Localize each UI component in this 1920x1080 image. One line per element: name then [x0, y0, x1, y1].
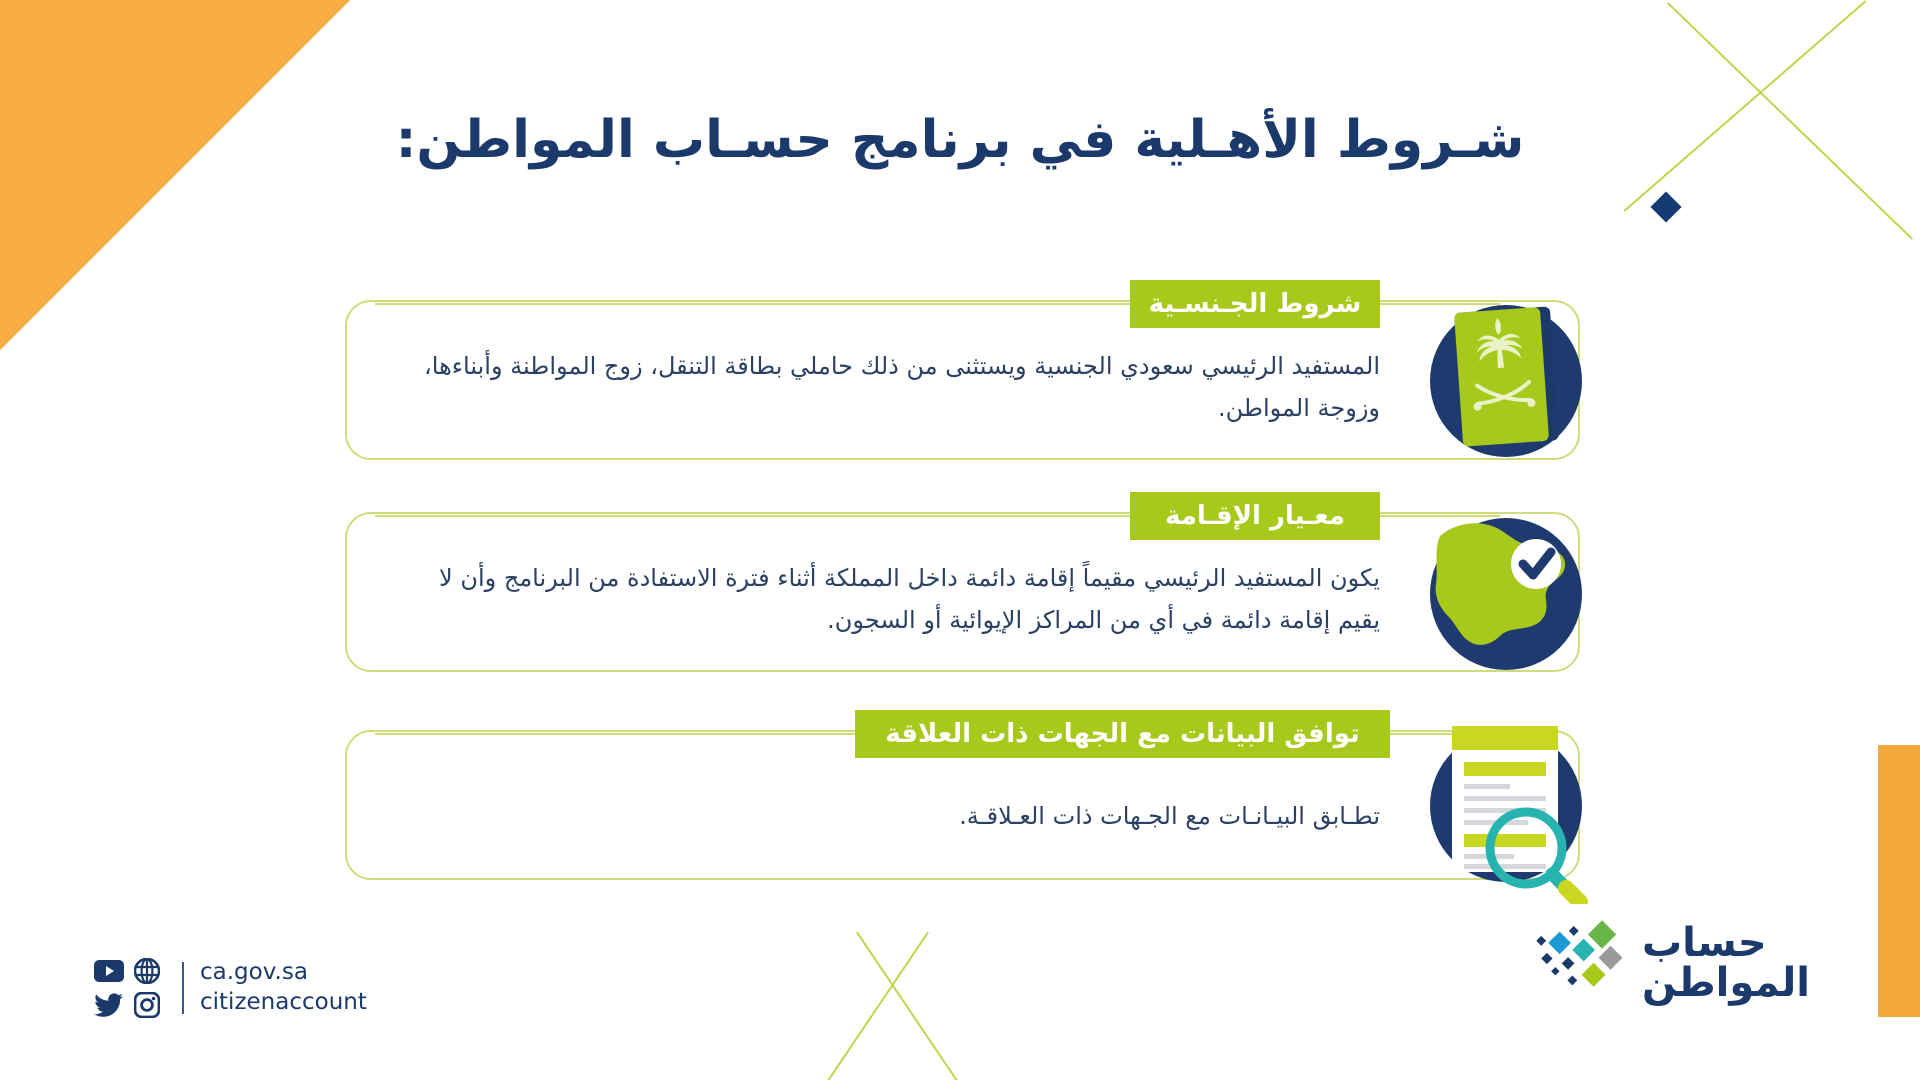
page-title: شـروط الأهـلية في برنامج حسـاب المواطن:: [0, 110, 1920, 170]
footer-divider: [182, 962, 184, 1014]
footer: ca.gov.sa citizenaccount: [90, 954, 367, 1022]
diagonal-squares-mark: [1518, 904, 1638, 996]
card-body-1: المستفيد الرئيسي سعودي الجنسية ويستثنى م…: [400, 345, 1380, 429]
globe-icon[interactable]: [134, 958, 160, 984]
card-icon-circle-2: [1430, 518, 1582, 670]
footer-links: ca.gov.sa citizenaccount: [200, 958, 367, 1018]
instagram-icon[interactable]: [134, 992, 160, 1018]
map-check-icon: [1408, 496, 1604, 692]
badge-connector-left-2: [375, 515, 1130, 517]
card-icon-circle-3: [1430, 730, 1582, 882]
badge-connector-left-3: [375, 733, 855, 735]
passport-icon: [1408, 283, 1604, 479]
title-container: شـروط الأهـلية في برنامج حسـاب المواطن:: [0, 110, 1920, 170]
footer-link-handle[interactable]: citizenaccount: [200, 988, 367, 1018]
card-icon-circle-1: [1430, 305, 1582, 457]
document-search-icon: [1408, 708, 1604, 904]
logo-line-1: حساب: [1642, 923, 1767, 963]
card-badge-2: معـيار الإقـامة: [1130, 492, 1380, 540]
citizen-account-logo: حساب المواطن: [1518, 904, 1810, 1022]
footer-link-website[interactable]: ca.gov.sa: [200, 958, 367, 988]
card-badge-1: شروط الجـنسـية: [1130, 280, 1380, 328]
youtube-icon[interactable]: [94, 960, 124, 982]
card-badge-3: توافق البيانات مع الجهات ذات العلاقة: [855, 710, 1390, 758]
card-body-2: يكون المستفيد الرئيسي مقيماً إقامة دائمة…: [400, 557, 1380, 641]
card-body-3: تطـابق البيـانـات مع الجـهات ذات العـلاق…: [400, 795, 1380, 837]
social-icons-group: [90, 954, 166, 1022]
logo-line-2: المواطن: [1642, 963, 1810, 1003]
twitter-icon[interactable]: [94, 992, 124, 1018]
logo-wordmark: حساب المواطن: [1642, 923, 1810, 1003]
badge-connector-left-1: [375, 303, 1130, 305]
